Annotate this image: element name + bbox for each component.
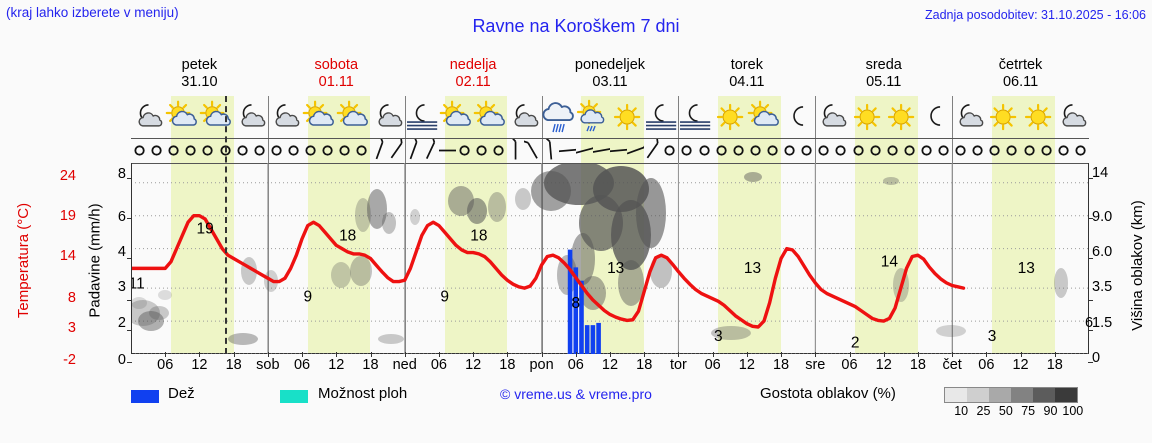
sun-icon xyxy=(713,98,747,136)
x-tick-mark-0 xyxy=(165,352,166,357)
temperature-axis-title-text: Temperatura (°C) xyxy=(16,202,33,317)
sun-icon xyxy=(610,98,644,136)
x-tick-mark-18 xyxy=(781,352,782,357)
wind-calm-symbol xyxy=(815,139,832,162)
x-tick-mark-25 xyxy=(1021,352,1022,357)
wind-barb-symbol xyxy=(542,139,559,162)
rain-legend-label: Dež xyxy=(168,385,195,402)
cloud-height-tick-2: 6.0 xyxy=(1092,244,1126,260)
wind-calm-symbol xyxy=(285,139,302,162)
x-axis-labels: 061218sob061218ned061218pon061218tor0612… xyxy=(131,357,1089,377)
moon-icon xyxy=(781,98,815,136)
wind-calm-symbol xyxy=(131,139,148,162)
wind-barb-symbol xyxy=(627,139,644,162)
right-axis-tick-3 xyxy=(1088,300,1093,301)
x-tick-mark-5 xyxy=(336,352,337,357)
x-tick-mark-21 xyxy=(884,352,885,357)
wind-calm-symbol xyxy=(1021,139,1038,162)
left-axis-tick-2 xyxy=(127,258,132,259)
wind-calm-symbol xyxy=(764,139,781,162)
x-tick-mark-11 xyxy=(542,352,543,357)
day-name: sobota xyxy=(314,57,358,73)
wind-calm-symbol xyxy=(251,139,268,162)
temperature-tick-4: 3 xyxy=(40,320,76,336)
x-tick-mark-13 xyxy=(610,352,611,357)
showers-legend-label: Možnost ploh xyxy=(318,385,407,402)
x-tick-mark-12 xyxy=(576,352,577,357)
x-tick-mark-10 xyxy=(507,352,508,357)
showers-legend-swatch xyxy=(280,390,308,403)
day-header-0: petek31.10 xyxy=(131,57,268,91)
forecast-plot[interactable]: 1119918918813313214313 xyxy=(131,96,1089,354)
temperature-tick-3: 8 xyxy=(40,290,76,306)
temperature-tick-2: 14 xyxy=(40,248,76,264)
day-name: ponedeljek xyxy=(575,57,645,73)
cloud-density-step-4 xyxy=(1033,388,1055,402)
wind-calm-symbol xyxy=(268,139,285,162)
cloud-density-colorbar xyxy=(944,387,1078,403)
day-name: nedelja xyxy=(450,57,497,73)
wind-calm-symbol xyxy=(781,139,798,162)
wind-barb-symbol xyxy=(422,139,439,162)
sun-cloud-icon xyxy=(336,98,370,136)
left-axis-tick-4 xyxy=(127,330,132,331)
cloud-height-tick-0: 14 xyxy=(1092,165,1126,181)
temperature-tick-0: 24 xyxy=(40,168,76,184)
wind-calm-symbol xyxy=(969,139,986,162)
wind-calm-symbol xyxy=(302,139,319,162)
cloud-density-colorbar-ticks: 1025507590100 xyxy=(938,404,1088,420)
x-tick-mark-3 xyxy=(268,352,269,357)
temperature-tick-1: 19 xyxy=(40,208,76,224)
day-header-1: sobota01.11 xyxy=(268,57,405,91)
wind-calm-symbol xyxy=(952,139,969,162)
cloud-height-axis-title: Višina oblakov (km) xyxy=(1124,160,1150,370)
x-tick-mark-6 xyxy=(371,352,372,357)
wind-calm-symbol xyxy=(935,139,952,162)
wind-barb-symbol xyxy=(388,139,405,162)
cloud-density-tick-2: 50 xyxy=(994,404,1018,418)
x-tick-mark-4 xyxy=(302,352,303,357)
cloud-density-legend-label: Gostota oblakov (%) xyxy=(760,385,896,402)
x-tick-label-26: 18 xyxy=(1032,357,1078,373)
plot-frame xyxy=(131,163,1089,354)
wind-barb-symbol xyxy=(524,139,541,162)
x-tick-mark-20 xyxy=(850,352,851,357)
wind-calm-symbol xyxy=(918,139,935,162)
sun-cloud-icon xyxy=(747,98,781,136)
day-header-2: nedelja02.11 xyxy=(405,57,542,91)
cloud-height-tick-5: 0 xyxy=(1092,350,1126,366)
wind-calm-symbol xyxy=(867,139,884,162)
wind-calm-symbol xyxy=(148,139,165,162)
precipitation-tick-5: 0 xyxy=(106,352,126,368)
precipitation-tick-1: 6 xyxy=(106,209,126,225)
left-axis-tick-3 xyxy=(127,300,132,301)
x-tick-mark-15 xyxy=(678,352,679,357)
cloud-rain-icon xyxy=(542,98,576,136)
x-tick-mark-14 xyxy=(644,352,645,357)
wind-calm-symbol xyxy=(319,139,336,162)
x-tick-mark-22 xyxy=(918,352,919,357)
wind-calm-symbol xyxy=(798,139,815,162)
x-tick-mark-26 xyxy=(1055,352,1056,357)
sun-icon xyxy=(884,98,918,136)
cloud-height-axis-title-text: Višina oblakov (km) xyxy=(1129,200,1146,331)
wind-calm-symbol xyxy=(1038,139,1055,162)
x-tick-mark-9 xyxy=(473,352,474,357)
day-date: 02.11 xyxy=(405,74,542,91)
left-axis-tick-1 xyxy=(127,218,132,219)
x-tick-mark-16 xyxy=(713,352,714,357)
current-time-marker xyxy=(225,96,227,354)
cloud-density-tick-3: 75 xyxy=(1016,404,1040,418)
sun-icon xyxy=(850,98,884,136)
precipitation-tick-2: 4 xyxy=(106,244,126,260)
moon-icon xyxy=(918,98,952,136)
wind-barb-symbol xyxy=(371,139,388,162)
wind-calm-symbol xyxy=(490,139,507,162)
last-update-text: Zadnja posodobitev: 31.10.2025 - 16:06 xyxy=(925,8,1146,22)
copyright-link[interactable]: © vreme.us & vreme.pro xyxy=(500,386,652,402)
wind-symbol-row xyxy=(131,138,1089,164)
day-date: 04.11 xyxy=(678,74,815,91)
moon-fog-icon xyxy=(644,98,678,136)
cloud-density-tick-4: 90 xyxy=(1039,404,1063,418)
wind-barb-symbol xyxy=(439,139,456,162)
x-tick-mark-24 xyxy=(986,352,987,357)
cloud-density-tick-0: 10 xyxy=(949,404,973,418)
cloud-density-tick-1: 25 xyxy=(972,404,996,418)
sun-cloud-icon xyxy=(199,98,233,136)
day-date: 31.10 xyxy=(131,74,268,91)
wind-barb-symbol xyxy=(610,139,627,162)
day-header-3: ponedeljek03.11 xyxy=(542,57,679,91)
wind-calm-symbol xyxy=(713,139,730,162)
left-axis-tick-0 xyxy=(127,178,132,179)
wind-calm-symbol xyxy=(901,139,918,162)
rain-legend-swatch xyxy=(131,390,159,403)
wind-calm-symbol xyxy=(1072,139,1089,162)
cloud-height-tick-4: 1.5 xyxy=(1092,315,1126,331)
wind-calm-symbol xyxy=(661,139,678,162)
wind-calm-symbol xyxy=(456,139,473,162)
temperature-axis-title: Temperatura (°C) xyxy=(10,165,38,355)
wind-barb-symbol xyxy=(507,139,524,162)
sun-cloud-drizzle-icon xyxy=(576,98,610,136)
day-header-6: četrtek06.11 xyxy=(952,57,1089,91)
precipitation-axis-title-text: Padavine (mm/h) xyxy=(87,203,104,317)
cloud-height-extra-tick: 6 xyxy=(1085,315,1093,331)
wind-calm-symbol xyxy=(353,139,370,162)
cloud-height-tick-3: 3.5 xyxy=(1092,279,1126,295)
wind-barb-symbol xyxy=(576,139,593,162)
wind-calm-symbol xyxy=(747,139,764,162)
wind-barb-symbol xyxy=(644,139,661,162)
cloud-density-step-1 xyxy=(967,388,989,402)
moon-fog-icon xyxy=(678,98,712,136)
sun-icon xyxy=(1021,98,1055,136)
moon-cloud-icon xyxy=(371,98,405,136)
day-date: 05.11 xyxy=(815,74,952,91)
day-date: 01.11 xyxy=(268,74,405,91)
wind-calm-symbol xyxy=(336,139,353,162)
wind-calm-symbol xyxy=(850,139,867,162)
wind-calm-symbol xyxy=(1055,139,1072,162)
wind-barb-symbol xyxy=(559,139,576,162)
cloud-height-tick-1: 9.0 xyxy=(1092,209,1126,225)
wind-calm-symbol xyxy=(234,139,251,162)
sun-cloud-icon xyxy=(473,98,507,136)
x-tick-mark-2 xyxy=(234,352,235,357)
x-tick-mark-23 xyxy=(952,352,953,357)
day-name: sreda xyxy=(866,57,902,73)
cloud-density-step-0 xyxy=(945,388,967,402)
day-name: torek xyxy=(731,57,763,73)
precipitation-tick-4: 2 xyxy=(106,315,126,331)
weather-icon-row xyxy=(131,96,1089,139)
precipitation-tick-3: 3 xyxy=(106,279,126,295)
x-tick-mark-17 xyxy=(747,352,748,357)
wind-calm-symbol xyxy=(730,139,747,162)
x-tick-mark-7 xyxy=(405,352,406,357)
precipitation-axis-title: Padavine (mm/h) xyxy=(82,165,108,355)
wind-calm-symbol xyxy=(986,139,1003,162)
sun-icon xyxy=(986,98,1020,136)
wind-calm-symbol xyxy=(182,139,199,162)
wind-calm-symbol xyxy=(165,139,182,162)
moon-fog-icon xyxy=(405,98,439,136)
temperature-tick-5: -2 xyxy=(40,352,76,368)
moon-cloud-icon xyxy=(131,98,165,136)
x-tick-mark-1 xyxy=(199,352,200,357)
wind-calm-symbol xyxy=(696,139,713,162)
wind-calm-symbol xyxy=(678,139,695,162)
chart-legend: Dež Možnost ploh © vreme.us & vreme.pro … xyxy=(0,385,1152,425)
moon-cloud-icon xyxy=(815,98,849,136)
x-tick-mark-19 xyxy=(815,352,816,357)
precipitation-tick-0: 8 xyxy=(106,166,126,182)
sun-cloud-icon xyxy=(439,98,473,136)
day-header-4: torek04.11 xyxy=(678,57,815,91)
moon-cloud-icon xyxy=(952,98,986,136)
wind-calm-symbol xyxy=(199,139,216,162)
x-tick-mark-8 xyxy=(439,352,440,357)
cloud-density-step-5 xyxy=(1055,388,1077,402)
day-header-row: petek31.10sobota01.11nedelja02.11ponedel… xyxy=(131,57,1089,95)
cloud-density-step-2 xyxy=(989,388,1011,402)
wind-calm-symbol xyxy=(832,139,849,162)
wind-calm-symbol xyxy=(884,139,901,162)
sun-cloud-icon xyxy=(302,98,336,136)
cloud-density-tick-5: 100 xyxy=(1061,404,1085,418)
sun-cloud-icon xyxy=(165,98,199,136)
moon-cloud-icon xyxy=(234,98,268,136)
moon-cloud-icon xyxy=(1055,98,1089,136)
moon-cloud-icon xyxy=(268,98,302,136)
day-name: četrtek xyxy=(999,57,1043,73)
day-name: petek xyxy=(182,57,217,73)
cloud-density-step-3 xyxy=(1011,388,1033,402)
wind-barb-symbol xyxy=(593,139,610,162)
day-date: 06.11 xyxy=(952,74,1089,91)
moon-cloud-icon xyxy=(507,98,541,136)
wind-barb-symbol xyxy=(405,139,422,162)
wind-calm-symbol xyxy=(473,139,490,162)
wind-calm-symbol xyxy=(1003,139,1020,162)
day-date: 03.11 xyxy=(542,74,679,91)
day-header-5: sreda05.11 xyxy=(815,57,952,91)
